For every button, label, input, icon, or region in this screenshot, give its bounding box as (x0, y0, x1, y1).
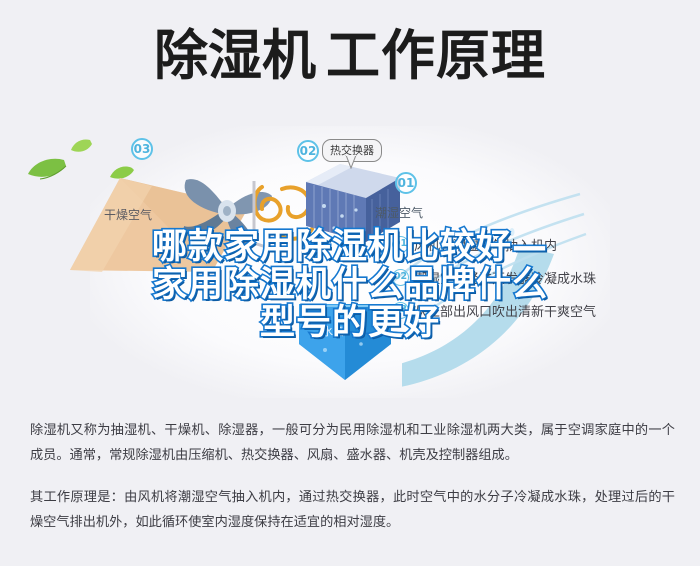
article-paragraph-2: 其工作原理是：由风机将潮湿空气抽入机内，通过热交换器，此时空气中的水分子冷凝成水… (30, 485, 675, 535)
label-water-tank: 水箱 (322, 323, 344, 339)
caption-text-02: 潮湿空气经过蒸发器冷凝成水珠 (414, 268, 596, 287)
diagram-badge-02: 02 (297, 140, 319, 162)
page-header: 除湿机工作原理 (0, 28, 700, 85)
caption-text-03: 从上部出风口吹出清新干爽空气 (414, 301, 596, 320)
page-title-part-2: 工作原理 (326, 24, 546, 87)
label-dry-air: 干燥空气 (104, 206, 152, 223)
page-title-part-1: 除湿机 (154, 24, 316, 87)
dehumidifier-diagram: 03 02 01 热交换器 干燥空气 潮湿空气 水箱 01 风机将潮湿空气抽入机… (0, 118, 700, 408)
diagram-badge-01: 01 (395, 172, 417, 194)
caption-step-03: 03 从上部出风口吹出清新干爽空气 (392, 301, 596, 320)
caption-text-01: 风机将潮湿空气抽入机内 (414, 235, 557, 254)
page-title: 除湿机工作原理 (154, 28, 546, 85)
caption-badge-03: 03 (392, 302, 409, 319)
caption-badge-02: 02 (392, 269, 409, 286)
caption-badge-01: 01 (392, 236, 409, 253)
label-humid-air: 潮湿空气 (375, 204, 423, 221)
diagram-badge-03: 03 (131, 138, 153, 160)
article-body: 除湿机又称为抽湿机、干燥机、除湿器，一般可分为民用除湿机和工业除湿机两大类，属于… (30, 418, 675, 535)
callout-tail-icon (345, 155, 357, 169)
article-paragraph-1: 除湿机又称为抽湿机、干燥机、除湿器，一般可分为民用除湿机和工业除湿机两大类，属于… (30, 418, 675, 468)
caption-step-02: 02 潮湿空气经过蒸发器冷凝成水珠 (392, 268, 596, 287)
water-tank-icon (295, 298, 395, 383)
page-root: 除湿机工作原理 (0, 0, 700, 566)
caption-step-01: 01 风机将潮湿空气抽入机内 (392, 235, 557, 254)
